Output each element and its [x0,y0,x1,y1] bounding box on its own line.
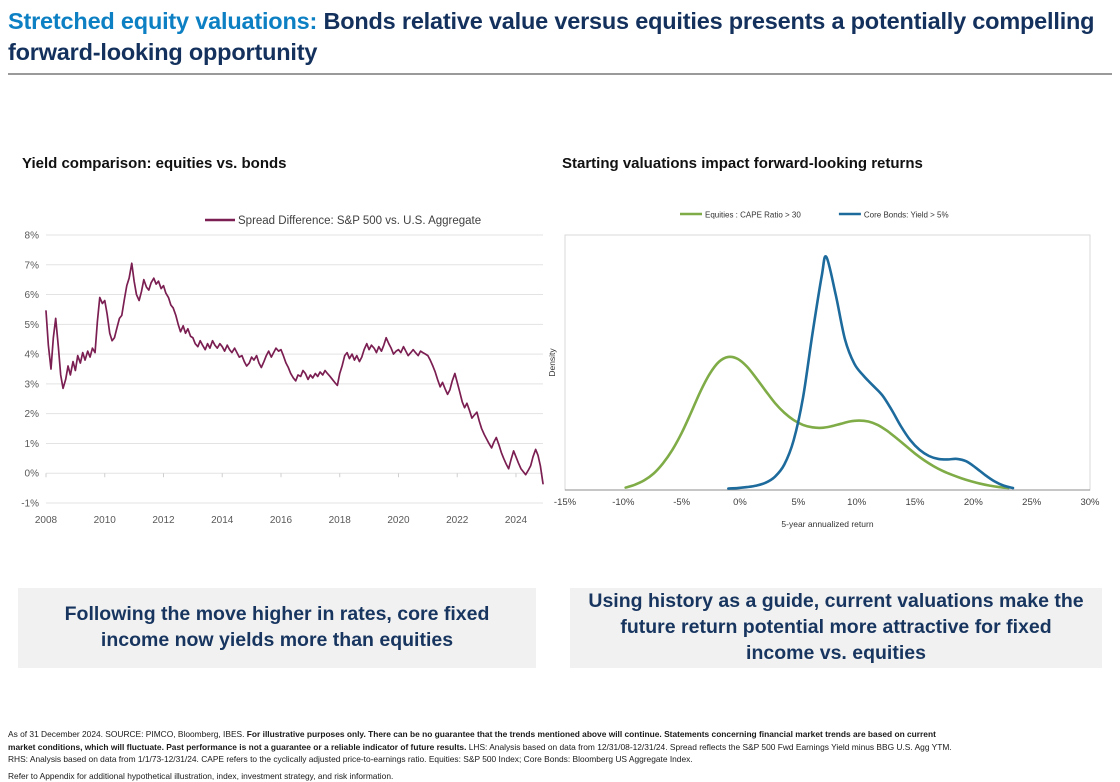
plot-border [565,235,1090,490]
footnote-line2-bold: market conditions, which will fluctuate.… [8,742,469,752]
footnote-line1-source: As of 31 December 2024. SOURCE: PIMCO, B… [8,729,247,739]
legend-label: Core Bonds: Yield > 5% [864,211,949,220]
x-tick-label: 2014 [211,515,234,526]
x-tick-label: 30% [1080,497,1100,508]
footnote-line1-bold: For illustrative purposes only. There ca… [247,729,936,739]
y-tick-label: 7% [25,260,40,271]
series-line [46,263,543,483]
title-divider [8,73,1112,75]
y-tick-label: 6% [25,290,40,301]
density-curve [728,256,1013,488]
x-tick-label: 2018 [329,515,352,526]
footnote-line2-rest: LHS: Analysis based on data from 12/31/0… [469,742,952,752]
y-tick-label: 1% [25,439,40,450]
y-tick-label: 5% [25,320,40,331]
title-accent: Stretched equity valuations: [8,8,317,34]
x-tick-label: 2010 [94,515,117,526]
x-tick-label: 2016 [270,515,293,526]
left-chart-heading: Yield comparison: equities vs. bonds [22,155,287,172]
x-tick-label: -5% [673,497,690,508]
x-tick-label: 2012 [152,515,175,526]
x-axis-title: 5-year annualized return [781,519,873,529]
page-title: Stretched equity valuations: Bonds relat… [8,6,1108,68]
x-tick-label: 0% [733,497,747,508]
y-tick-label: -1% [21,499,39,510]
y-tick-label: 0% [25,469,40,480]
slide: Stretched equity valuations: Bonds relat… [0,0,1120,780]
x-tick-label: 25% [1022,497,1042,508]
density-chart: -15%-10%-5%0%5%10%15%20%25%30%5-year ann… [545,200,1120,545]
spread-line-chart: 8%7%6%5%4%3%2%1%0%-1%2008201020122014201… [0,205,555,535]
x-tick-label: 5% [791,497,805,508]
x-tick-label: 2020 [387,515,410,526]
footnote: As of 31 December 2024. SOURCE: PIMCO, B… [8,728,1112,782]
y-tick-label: 2% [25,409,40,420]
footnote-line4: Refer to Appendix for additional hypothe… [8,770,1112,782]
x-tick-label: 10% [847,497,867,508]
legend-label: Spread Difference: S&P 500 vs. U.S. Aggr… [238,215,481,227]
density-curve [626,357,1009,488]
y-tick-label: 4% [25,350,40,361]
callout-left: Following the move higher in rates, core… [18,588,536,668]
x-tick-label: 2022 [446,515,469,526]
x-tick-label: 20% [964,497,984,508]
x-tick-label: 2008 [35,515,58,526]
x-tick-label: -15% [554,497,577,508]
x-tick-label: -10% [612,497,635,508]
x-tick-label: 15% [905,497,925,508]
x-tick-label: 2024 [505,515,528,526]
y-axis-title: Density [547,348,557,377]
y-tick-label: 3% [25,379,40,390]
legend-label: Equities : CAPE Ratio > 30 [705,211,801,220]
callout-right: Using history as a guide, current valuat… [570,588,1102,668]
footnote-line3: RHS: Analysis based on data from 1/1/73-… [8,753,1112,766]
right-chart-heading: Starting valuations impact forward-looki… [562,155,923,172]
y-tick-label: 8% [25,231,40,242]
